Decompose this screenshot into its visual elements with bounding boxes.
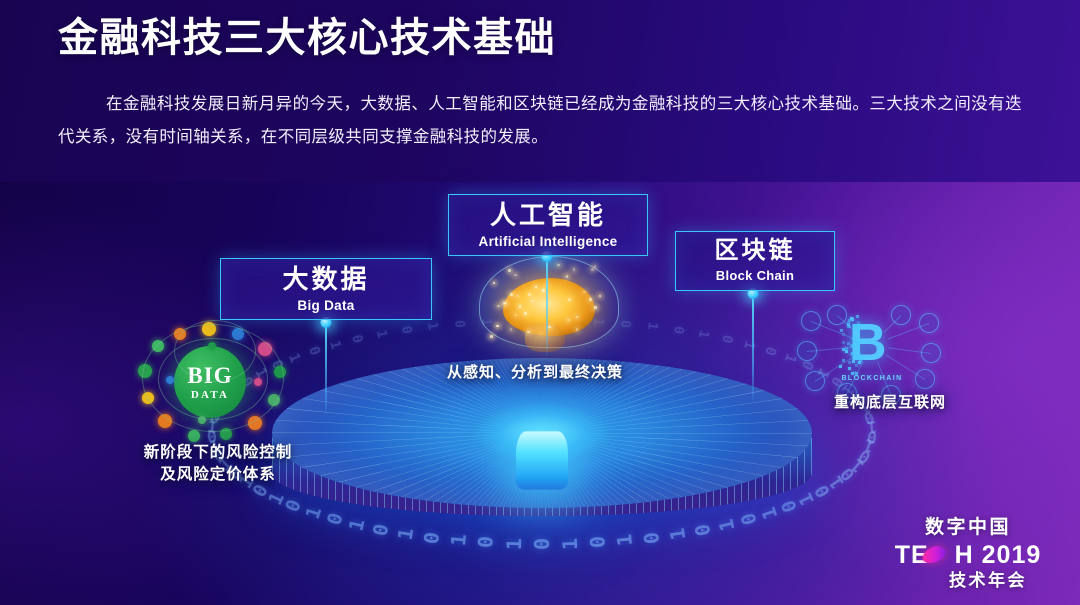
blockchain-pixel (845, 350, 848, 353)
blockchain-pixel (848, 325, 851, 328)
binary-digit: 0 (855, 444, 874, 466)
blockchain-pixel (853, 328, 856, 331)
binary-digit: 1 (373, 329, 389, 340)
blockchain-wordmark: BLOCKCHAIN (831, 375, 913, 382)
blockchain-pixel (839, 365, 842, 368)
blockchain-pixel (853, 357, 856, 360)
pillar-label-en: Block Chain (716, 268, 794, 285)
blockchain-pixel (848, 361, 851, 364)
logo-wordmark: TEH 2019 (895, 541, 1042, 570)
blockchain-pixel (855, 324, 858, 327)
brain-synapse (524, 312, 527, 315)
blockchain-pixel (852, 360, 855, 363)
blockchain-pixel (842, 359, 845, 362)
page-title: 金融科技三大核心技术基础 (58, 14, 556, 62)
caption-line: 新阶段下的风险控制 (108, 442, 328, 464)
event-logo: 数字中国 TEH 2019 技术年会 (888, 516, 1048, 591)
pillar-label-en: Artificial Intelligence (479, 233, 618, 251)
binary-digit: 0 (348, 333, 365, 345)
stem-ai (546, 256, 548, 356)
logo-mark-suffix: H 2019 (955, 541, 1042, 569)
brain-icon (473, 252, 625, 356)
brain-synapse (497, 305, 500, 308)
brain-synapse (566, 275, 569, 278)
blockchain-bitcoin-icon: B BLOCKCHAIN (795, 305, 945, 401)
brain-synapse (576, 328, 579, 331)
caption-blockchain: 重构底层互联网 (800, 392, 980, 414)
binary-digit: 0 (451, 319, 467, 328)
blockchain-pixel (840, 329, 843, 332)
brain-synapse (528, 293, 531, 296)
caption-ai: 从感知、分析到最终决策 (430, 362, 640, 384)
brain-synapse (542, 289, 545, 292)
pillar-label-blockchain[interactable]: 区块链 Block Chain (675, 231, 835, 291)
pillar-label-en: Big Data (297, 297, 354, 315)
binary-digit: 1 (695, 329, 711, 340)
binary-digit: 1 (861, 435, 878, 457)
brain-synapse (510, 293, 513, 296)
blockchain-pixel (842, 341, 845, 344)
brain-stem (525, 324, 565, 352)
brain-synapse (519, 305, 522, 308)
brain-synapse (589, 298, 592, 301)
slide-canvas: 1010101010101010101010101010101010101010… (0, 0, 1080, 605)
blockchain-pixel (857, 321, 860, 324)
blockchain-pixel (859, 340, 862, 343)
binary-digit: 1 (424, 322, 440, 332)
caption-bigdata: 新阶段下的风险控制 及风险定价体系 (108, 442, 328, 487)
pillar-label-bigdata[interactable]: 大数据 Big Data (220, 258, 432, 320)
blockchain-pixel (857, 354, 860, 357)
binary-digit: 0 (670, 325, 686, 335)
data-platform-disc (272, 358, 812, 558)
binary-digit: 0 (398, 325, 414, 335)
binary-digit: 1 (825, 472, 849, 493)
big-data-network-icon: BIG DATA (128, 318, 298, 440)
brain-synapse (527, 331, 530, 334)
stem-bigdata (325, 322, 327, 414)
brain-synapse (508, 269, 511, 272)
brain-synapse (591, 268, 594, 271)
binary-digit: 1 (644, 322, 660, 332)
blockchain-pixel (856, 341, 859, 344)
pillar-label-cn: 大数据 (282, 264, 369, 295)
blockchain-pixel (854, 349, 857, 352)
blockchain-pixel (853, 371, 856, 374)
big-data-node (188, 430, 200, 442)
binary-digit: 1 (847, 454, 868, 476)
blockchain-pixel (856, 315, 859, 318)
binary-digit: 1 (866, 417, 878, 437)
logo-subtitle-cn: 技术年会 (928, 570, 1048, 591)
binary-digit: 1 (326, 339, 344, 351)
brain-synapse (594, 306, 597, 309)
binary-digit: 1 (740, 339, 758, 351)
brain-synapse (514, 274, 517, 277)
brain-synapse (568, 298, 571, 301)
blockchain-pixel (850, 353, 853, 356)
blockchain-pixel (845, 347, 848, 350)
binary-digit: 0 (811, 481, 835, 501)
intro-paragraph: 在金融科技发展日新月异的今天，大数据、人工智能和区块链已经成为金融科技的三大核心… (58, 88, 1022, 154)
blockchain-pixel (847, 342, 850, 345)
pillar-label-cn: 区块链 (715, 237, 796, 265)
blockchain-pixel (855, 364, 858, 367)
blockchain-pixel (848, 319, 851, 322)
binary-digit: 0 (761, 345, 779, 358)
binary-digit: 0 (305, 345, 323, 358)
stem-blockchain (752, 293, 754, 401)
pillar-label-ai[interactable]: 人工智能 Artificial Intelligence (448, 194, 648, 256)
brain-synapse (490, 335, 493, 338)
binary-digit: 0 (837, 463, 860, 485)
blockchain-pixel (858, 324, 861, 327)
caption-line: 及风险定价体系 (108, 464, 328, 486)
big-data-orbit-ring (174, 320, 256, 382)
brain-synapse (510, 328, 513, 331)
blockchain-pixel (850, 344, 853, 347)
binary-digit: 0 (718, 333, 735, 345)
blockchain-pixel (842, 333, 845, 336)
binary-digit: 0 (866, 427, 878, 447)
disc-core-glow (516, 431, 568, 489)
logo-title-cn: 数字中国 (888, 516, 1048, 541)
pillar-label-cn: 人工智能 (490, 200, 606, 231)
blockchain-pixel (848, 367, 851, 370)
